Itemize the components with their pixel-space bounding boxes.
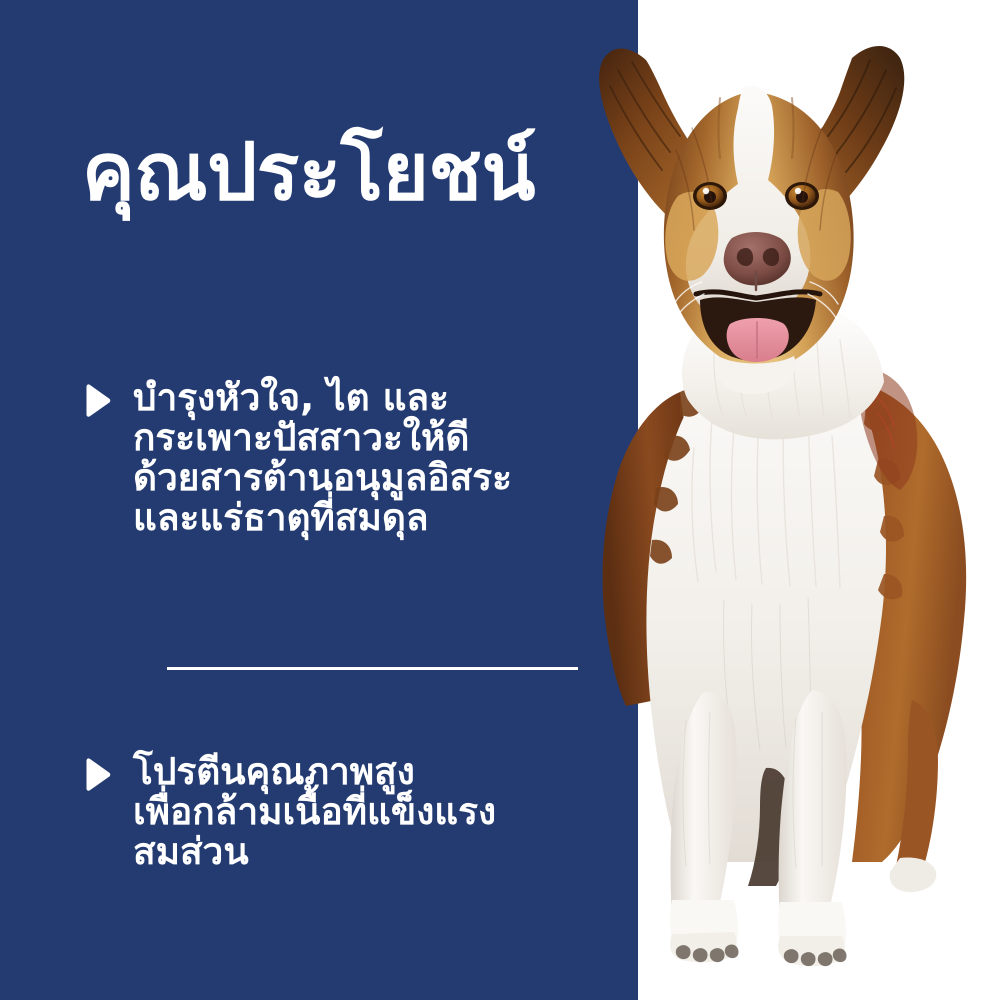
benefit-item-2: โปรตีนคุณภาพสูง เพื่อกล้ามเนื้อที่แข็งแร… (82, 752, 496, 872)
benefit-text-2: โปรตีนคุณภาพสูง เพื่อกล้ามเนื้อที่แข็งแร… (133, 752, 496, 872)
benefits-banner: คุณประโยชน์ บำรุงหัวใจ, ไต และ กระเพาะปั… (0, 0, 1000, 1000)
benefit-text-1: บำรุงหัวใจ, ไต และ กระเพาะปัสสาวะให้ดี ด… (133, 378, 512, 538)
play-triangle-icon (82, 384, 112, 418)
benefit-item-1: บำรุงหัวใจ, ไต และ กระเพาะปัสสาวะให้ดี ด… (82, 378, 512, 538)
divider (167, 667, 578, 670)
play-triangle-icon (82, 758, 112, 792)
dog-photo (560, 0, 1000, 1000)
page-title: คุณประโยชน์ (82, 133, 535, 212)
